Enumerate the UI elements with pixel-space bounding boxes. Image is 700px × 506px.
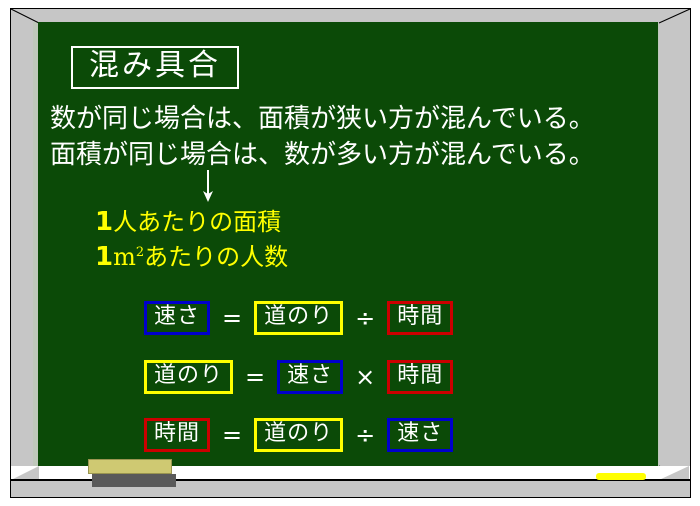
term-time: 時間 [387, 360, 453, 394]
formula-row-speed: 速さ = 道のり ÷ 時間 [144, 301, 453, 335]
down-arrow-icon [199, 170, 217, 202]
term-speed: 速さ [387, 418, 453, 452]
highlight-1-number: 1 [95, 207, 113, 237]
chalkboard-eraser [88, 459, 176, 487]
yellow-chalk-stick [596, 473, 646, 480]
term-distance: 道のり [254, 301, 343, 335]
eraser-body [92, 474, 176, 487]
highlight-2-exponent: 2 [136, 245, 144, 260]
highlight-2-text: あたりの人数 [144, 243, 288, 271]
term-distance: 道のり [254, 418, 343, 452]
operator-equals: = [210, 421, 254, 449]
statement-line-1: 数が同じ場合は、面積が狭い方が混んでいる。 [50, 105, 595, 134]
highlight-people-per-sqm: 1m2あたりの人数 [95, 243, 288, 272]
operator-divide: ÷ [343, 421, 387, 449]
operator-equals: = [210, 304, 254, 332]
highlight-2-unit: m [113, 243, 136, 271]
operator-equals: = [233, 363, 277, 391]
term-speed: 速さ [144, 301, 210, 335]
highlight-2-number: 1 [95, 242, 113, 272]
highlight-1-text: 人あたりの面積 [113, 208, 281, 236]
term-time: 時間 [387, 301, 453, 335]
formula-row-time: 時間 = 道のり ÷ 速さ [144, 418, 453, 452]
operator-multiply: × [343, 363, 387, 391]
tray-miter-left [11, 466, 39, 480]
term-speed: 速さ [277, 360, 343, 394]
eraser-felt [88, 459, 172, 474]
term-time: 時間 [144, 418, 210, 452]
tray-miter-right [659, 466, 689, 480]
formula-row-distance: 道のり = 速さ × 時間 [144, 360, 453, 394]
blackboard-scene: 混み具合 数が同じ場合は、面積が狭い方が混んでいる。 面積が同じ場合は、数が多い… [0, 0, 700, 506]
board-title: 混み具合 [71, 46, 239, 89]
statement-line-2: 面積が同じ場合は、数が多い方が混んでいる。 [50, 141, 595, 170]
operator-divide: ÷ [343, 304, 387, 332]
term-distance: 道のり [144, 360, 233, 394]
highlight-area-per-person: 1人あたりの面積 [95, 208, 281, 237]
